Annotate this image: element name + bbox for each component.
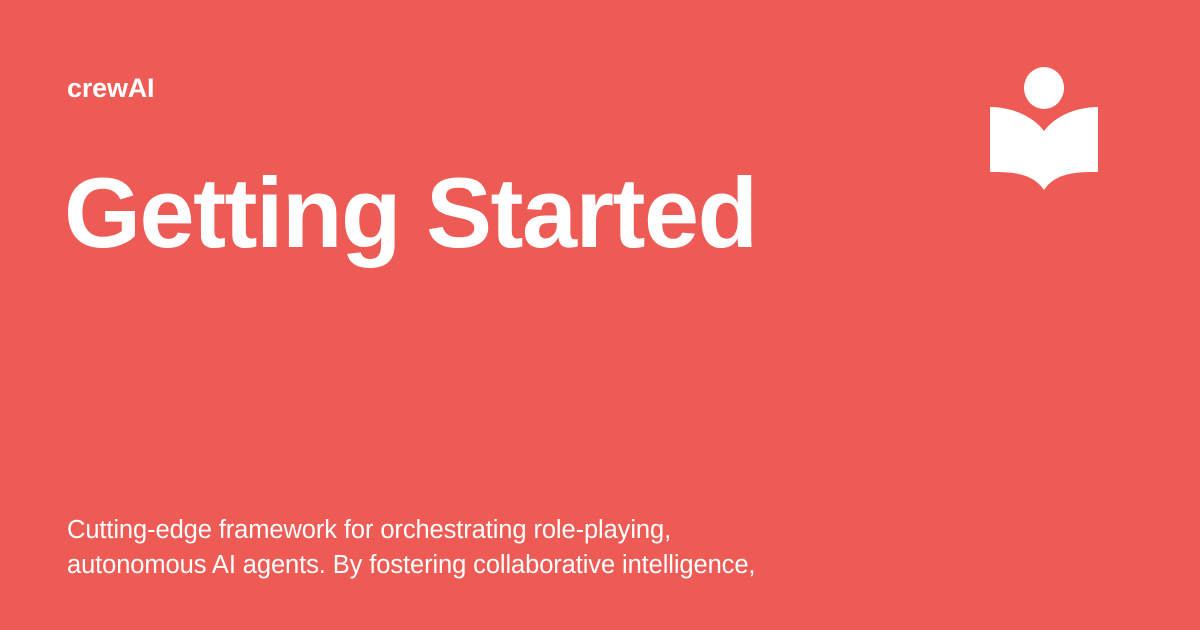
brand-wordmark: crewAI: [67, 72, 154, 104]
description-line: Cutting-edge framework for orchestrating…: [67, 513, 887, 548]
description-line: autonomous AI agents. By fostering colla…: [67, 548, 887, 583]
page-description: Cutting-edge framework for orchestrating…: [67, 513, 887, 583]
open-book-reader-icon: [988, 66, 1100, 194]
og-preview-card: crewAI Getting Started Cutting-edge fram…: [0, 0, 1200, 630]
page-title: Getting Started: [64, 157, 757, 269]
